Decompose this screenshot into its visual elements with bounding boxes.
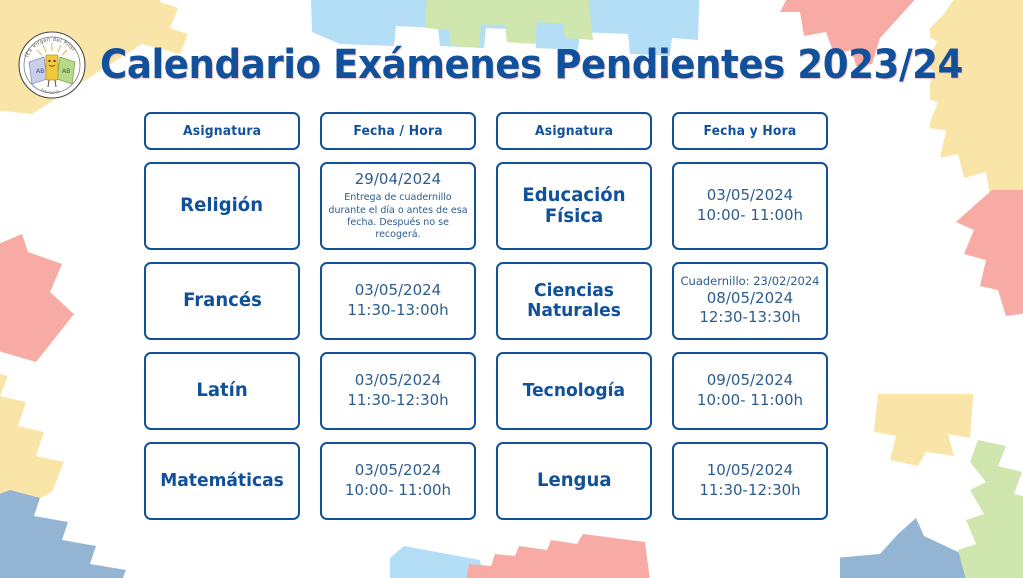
datetime-cell: 10/05/2024 11:30-12:30h [672, 442, 828, 520]
header-cell-fecha-hora-left: Fecha / Hora [320, 112, 476, 150]
subject-label: Matemáticas [160, 471, 284, 491]
deco-shape-steelblue-bottomright [840, 518, 1000, 578]
datetime-cell: Cuadernillo: 23/02/2024 08/05/2024 12:30… [672, 262, 828, 340]
subject-cell: Lengua [496, 442, 652, 520]
datetime-cell: 03/05/2024 11:30-12:30h [320, 352, 476, 430]
table-row: Latín 03/05/2024 11:30-12:30h Tecnología… [144, 352, 816, 430]
exam-time: 10:00- 11:00h [345, 481, 451, 499]
header-cell-asignatura-left: Asignatura [144, 112, 300, 150]
table-header-row: Asignatura Fecha / Hora Asignatura Fecha… [144, 112, 816, 150]
table-row: Francés 03/05/2024 11:30-13:00h Ciencias… [144, 262, 816, 340]
exam-time: 10:00- 11:00h [697, 206, 803, 224]
exam-date: 08/05/2024 [707, 289, 793, 307]
deco-shape-yellow-bottomleft [0, 370, 120, 540]
deco-shape-lightblue-bottom [390, 538, 500, 578]
header-label: Asignatura [535, 124, 613, 139]
subject-label: Educación Física [508, 185, 641, 228]
subject-label: Religión [181, 195, 264, 216]
subject-label: Lengua [537, 470, 612, 491]
exam-time: 12:30-13:30h [699, 308, 800, 326]
datetime-cell: 03/05/2024 10:00- 11:00h [320, 442, 476, 520]
subject-cell: Tecnología [496, 352, 652, 430]
exam-date: 03/05/2024 [355, 281, 441, 299]
school-crest-logo: AB AB IES Virgen del Pilar E [16, 29, 88, 101]
datetime-cell: 03/05/2024 10:00- 11:00h [672, 162, 828, 250]
header-label: Fecha / Hora [353, 124, 442, 139]
deco-shape-yellow-bottomright [870, 394, 980, 474]
exam-time: 10:00- 11:00h [697, 391, 803, 409]
exam-date: 10/05/2024 [707, 461, 793, 479]
deco-shape-green-bottomright [940, 440, 1023, 578]
table-row: Religión 29/04/2024 Entrega de cuadernil… [144, 162, 816, 250]
exam-date: 03/05/2024 [707, 186, 793, 204]
exam-date: 03/05/2024 [355, 371, 441, 389]
subject-cell: Latín [144, 352, 300, 430]
exam-time: 11:30-12:30h [347, 391, 448, 409]
deco-shape-pink-bottomcenter [455, 530, 685, 578]
header-cell-asignatura-right: Asignatura [496, 112, 652, 150]
header-cell-fecha-hora-right: Fecha y Hora [672, 112, 828, 150]
exam-booklet-note: Cuadernillo: 23/02/2024 [681, 274, 820, 289]
svg-text:AB: AB [36, 68, 44, 75]
exam-date: 03/05/2024 [355, 461, 441, 479]
exam-time: 11:30-13:00h [347, 301, 448, 319]
header-label: Fecha y Hora [704, 124, 797, 139]
table-row: Matemáticas 03/05/2024 10:00- 11:00h Len… [144, 442, 816, 520]
subject-label: Ciencias Naturales [508, 281, 641, 321]
deco-shape-pink-rightmid [952, 190, 1023, 320]
exam-time: 11:30-12:30h [699, 481, 800, 499]
datetime-cell: 09/05/2024 10:00- 11:00h [672, 352, 828, 430]
deco-shape-pink-left [0, 222, 110, 372]
exam-schedule-table: Asignatura Fecha / Hora Asignatura Fecha… [144, 112, 816, 532]
exam-date: 29/04/2024 [355, 170, 441, 188]
subject-label: Latín [196, 380, 247, 401]
subject-cell: Educación Física [496, 162, 652, 250]
calendar-poster: AB AB IES Virgen del Pilar E [0, 0, 1023, 578]
subject-cell: Francés [144, 262, 300, 340]
poster-header: AB AB IES Virgen del Pilar E [0, 28, 1023, 102]
subject-label: Tecnología [523, 381, 625, 401]
page-title: Calendario Exámenes Pendientes 2023/24 [100, 42, 963, 88]
header-label: Asignatura [183, 124, 261, 139]
subject-cell: Matemáticas [144, 442, 300, 520]
exam-note: Entrega de cuadernillo durante el día o … [328, 192, 468, 241]
datetime-cell: 29/04/2024 Entrega de cuadernillo durant… [320, 162, 476, 250]
subject-label: Francés [183, 290, 262, 311]
subject-cell: Religión [144, 162, 300, 250]
exam-date: 09/05/2024 [707, 371, 793, 389]
subject-cell: Ciencias Naturales [496, 262, 652, 340]
datetime-cell: 03/05/2024 11:30-13:00h [320, 262, 476, 340]
svg-text:AB: AB [62, 68, 70, 75]
